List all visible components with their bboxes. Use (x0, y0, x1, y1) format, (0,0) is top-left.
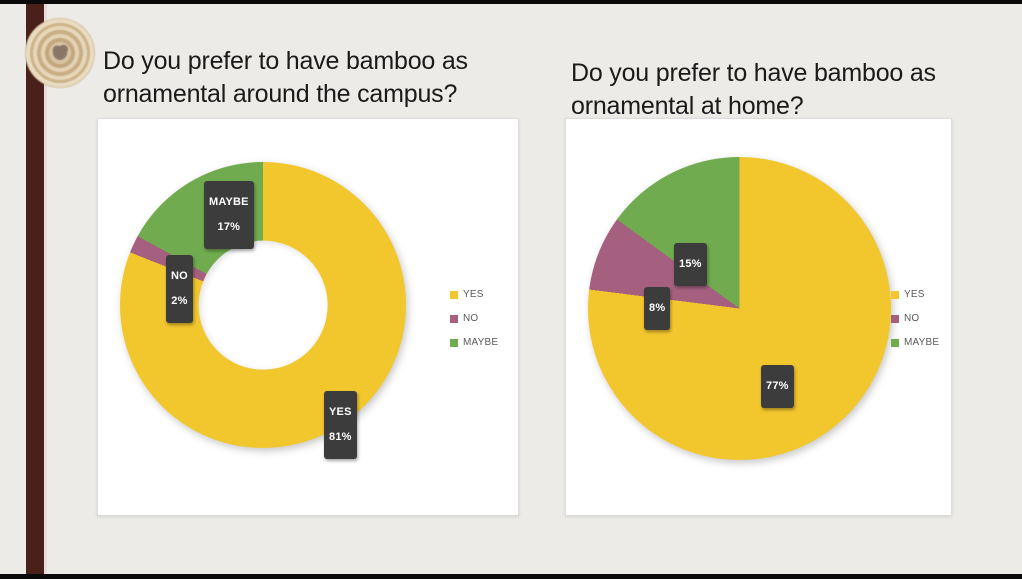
data-label-campus-maybe: MAYBE 17% (204, 181, 254, 249)
chart-panel-campus: MAYBE 17% NO 2% YES 81% YES NO (97, 118, 519, 516)
legend-label-yes: YES (904, 289, 925, 300)
page-title-campus: Do you prefer to have bamboo as ornament… (103, 45, 523, 111)
decorative-stripe-highlight (44, 0, 47, 579)
legend-item-yes[interactable]: YES (891, 289, 939, 300)
data-label-campus-yes: YES 81% (324, 391, 357, 459)
legend-label-no: NO (904, 313, 919, 324)
legend-label-yes: YES (463, 289, 484, 300)
legend-item-maybe[interactable]: MAYBE (450, 337, 498, 348)
page-title-home: Do you prefer to have bamboo as ornament… (571, 57, 971, 123)
legend-campus: YES NO MAYBE (450, 289, 498, 361)
presentation-slide: Do you prefer to have bamboo as ornament… (0, 0, 1022, 579)
legend-item-maybe[interactable]: MAYBE (891, 337, 939, 348)
chart-panel-home: 15% 8% 77% YES NO MAYBE (565, 118, 952, 516)
legend-label-maybe: MAYBE (904, 337, 939, 348)
legend-swatch-no (891, 315, 899, 323)
data-label-home-no: 8% (644, 287, 670, 330)
slide-top-border (0, 0, 1022, 4)
legend-swatch-no (450, 315, 458, 323)
doughnut-hole (199, 241, 328, 370)
decorative-brown-stripe (26, 0, 46, 579)
legend-item-no[interactable]: NO (891, 313, 939, 324)
heart-icon (54, 46, 67, 59)
legend-swatch-maybe (450, 339, 458, 347)
data-label-home-maybe: 15% (674, 243, 707, 286)
legend-swatch-yes (891, 291, 899, 299)
pie-chart-home (588, 157, 891, 460)
pie-slices (588, 157, 891, 460)
legend-swatch-yes (450, 291, 458, 299)
bamboo-tree-ring-logo-icon (25, 18, 95, 88)
data-label-home-yes: 77% (761, 365, 794, 408)
legend-item-no[interactable]: NO (450, 313, 498, 324)
legend-swatch-maybe (891, 339, 899, 347)
data-label-campus-no: NO 2% (166, 255, 193, 323)
doughnut-chart-campus (120, 162, 406, 448)
slide-bottom-border (0, 574, 1022, 579)
legend-label-maybe: MAYBE (463, 337, 498, 348)
legend-label-no: NO (463, 313, 478, 324)
legend-item-yes[interactable]: YES (450, 289, 498, 300)
legend-home: YES NO MAYBE (891, 289, 939, 361)
